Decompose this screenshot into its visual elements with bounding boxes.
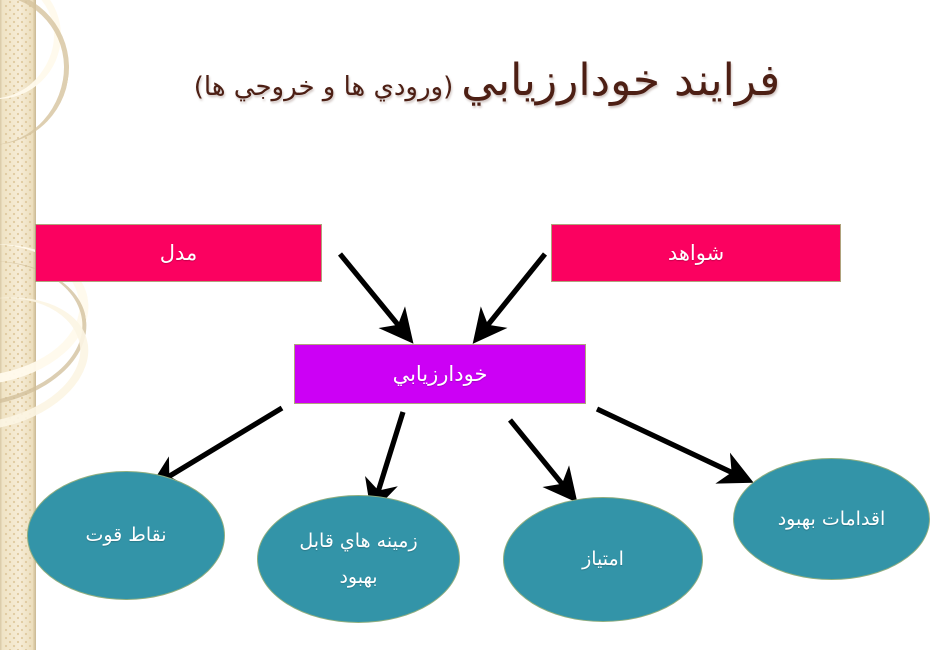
- node-box-model-label: مدل: [160, 241, 198, 265]
- arrow-self-to-strengths: [168, 408, 282, 477]
- border-swoosh-icon: [0, 278, 103, 450]
- node-ellipse-areas-line2: بهبود: [339, 566, 377, 588]
- node-box-self-assessment-label: خودارزيابي: [393, 362, 488, 386]
- arrow-evidence-to-self: [487, 254, 545, 326]
- node-ellipse-strengths[interactable]: نقاط قوت: [27, 471, 225, 600]
- slide-title: فرايند خودارزيابي(ورودي ها و خروجي ها): [36, 55, 938, 106]
- node-ellipse-areas-for-improvement[interactable]: زمينه هاي قابل بهبود: [257, 495, 460, 623]
- node-ellipse-strengths-label: نقاط قوت: [85, 517, 166, 553]
- slide-canvas: فرايند خودارزيابي(ورودي ها و خروجي ها) م…: [0, 0, 938, 650]
- node-box-self-assessment[interactable]: خودارزيابي: [294, 344, 586, 404]
- arrow-self-to-score: [510, 420, 563, 485]
- arrow-self-to-areas: [378, 412, 403, 492]
- node-ellipse-improvement-actions[interactable]: اقدامات بهبود: [733, 458, 930, 580]
- slide-title-sub: (ورودي ها و خروجي ها): [194, 72, 453, 102]
- node-box-evidence-label: شواهد: [668, 241, 724, 265]
- node-ellipse-actions-label: اقدامات بهبود: [778, 501, 886, 537]
- border-edge-left: [0, 0, 3, 650]
- node-ellipse-score-label: امتياز: [582, 541, 624, 577]
- arrow-self-to-actions: [597, 409, 733, 473]
- arrow-model-to-self: [340, 254, 399, 326]
- node-box-model[interactable]: مدل: [35, 224, 322, 282]
- node-box-evidence[interactable]: شواهد: [551, 224, 841, 282]
- node-ellipse-areas-label: زمينه هاي قابل بهبود: [299, 523, 417, 595]
- slide-title-main: فرايند خودارزيابي: [461, 55, 780, 106]
- node-ellipse-score[interactable]: امتياز: [503, 497, 703, 622]
- node-ellipse-areas-line1: زمينه هاي قابل: [299, 530, 417, 552]
